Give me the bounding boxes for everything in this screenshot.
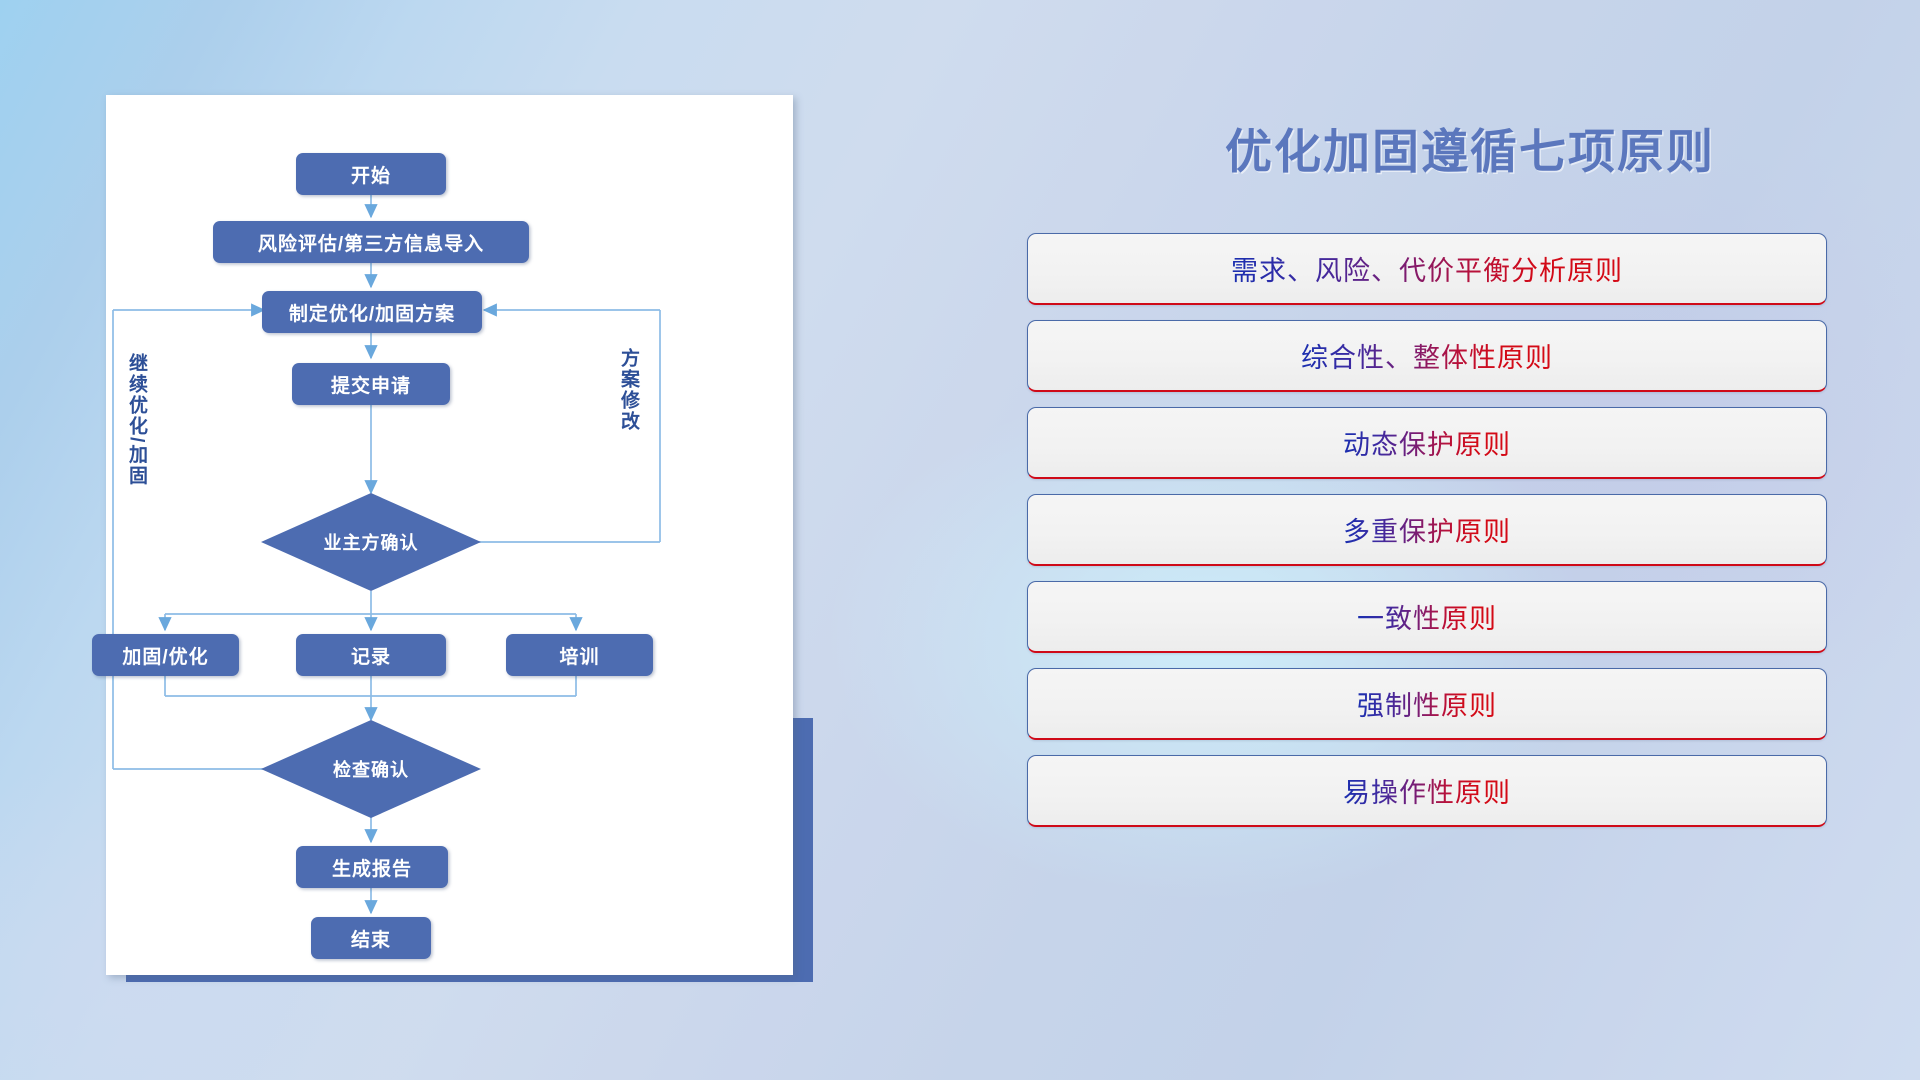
- list-item[interactable]: 需求、风险、代价平衡分析原则: [1027, 233, 1827, 305]
- list-item[interactable]: 综合性、整体性原则: [1027, 320, 1827, 392]
- flow-node-label: 加固/优化: [122, 642, 208, 669]
- principle-label: 多重保护原则: [1343, 510, 1511, 549]
- principles-list: 需求、风险、代价平衡分析原则 综合性、整体性原则 动态保护原则 多重保护原则 一…: [1027, 233, 1827, 842]
- principle-label: 需求、风险、代价平衡分析原则: [1231, 249, 1623, 288]
- flow-node-label: 培训: [559, 642, 599, 669]
- flow-node-label: 业主方确认: [261, 493, 481, 591]
- flow-node-label: 结束: [351, 925, 391, 952]
- flow-node-start[interactable]: 开始: [296, 153, 446, 195]
- flowchart-panel: 开始 风险评估/第三方信息导入 制定优化/加固方案 提交申请 业主方确认 加固/…: [0, 0, 820, 1080]
- flow-node-record[interactable]: 记录: [296, 634, 446, 676]
- principle-label: 综合性、整体性原则: [1301, 336, 1553, 375]
- flow-node-label: 开始: [351, 161, 391, 188]
- flow-node-risk-assessment[interactable]: 风险评估/第三方信息导入: [213, 221, 529, 263]
- flow-node-submit-application[interactable]: 提交申请: [292, 363, 450, 405]
- list-item[interactable]: 多重保护原则: [1027, 494, 1827, 566]
- flow-node-label: 提交申请: [331, 371, 411, 398]
- edge-label-left-loop: 继续优化/加固: [126, 353, 146, 486]
- list-item[interactable]: 动态保护原则: [1027, 407, 1827, 479]
- flow-decision-inspection-confirm[interactable]: 检查确认: [261, 720, 481, 818]
- flow-node-label: 检查确认: [261, 720, 481, 818]
- principle-label: 一致性原则: [1357, 597, 1497, 636]
- flowchart-card: 开始 风险评估/第三方信息导入 制定优化/加固方案 提交申请 业主方确认 加固/…: [106, 95, 793, 975]
- principle-label: 动态保护原则: [1343, 423, 1511, 462]
- flow-node-label: 制定优化/加固方案: [289, 299, 455, 326]
- principles-panel: 优化加固遵循七项原则 需求、风险、代价平衡分析原则 综合性、整体性原则 动态保护…: [1020, 0, 1920, 1080]
- flow-node-plan[interactable]: 制定优化/加固方案: [262, 291, 482, 333]
- edge-label-right-loop: 方案修改: [618, 348, 638, 432]
- flow-node-label: 风险评估/第三方信息导入: [258, 229, 484, 256]
- flow-node-training[interactable]: 培训: [506, 634, 653, 676]
- list-item[interactable]: 强制性原则: [1027, 668, 1827, 740]
- flow-node-label: 记录: [351, 642, 391, 669]
- flow-node-generate-report[interactable]: 生成报告: [296, 846, 448, 888]
- flow-node-end[interactable]: 结束: [311, 917, 431, 959]
- list-item[interactable]: 易操作性原则: [1027, 755, 1827, 827]
- principle-label: 强制性原则: [1357, 684, 1497, 723]
- flow-node-reinforce-optimize[interactable]: 加固/优化: [92, 634, 239, 676]
- flow-decision-owner-confirm[interactable]: 业主方确认: [261, 493, 481, 591]
- page-title: 优化加固遵循七项原则: [1020, 113, 1920, 182]
- principle-label: 易操作性原则: [1343, 771, 1511, 810]
- list-item[interactable]: 一致性原则: [1027, 581, 1827, 653]
- flow-node-label: 生成报告: [332, 854, 412, 881]
